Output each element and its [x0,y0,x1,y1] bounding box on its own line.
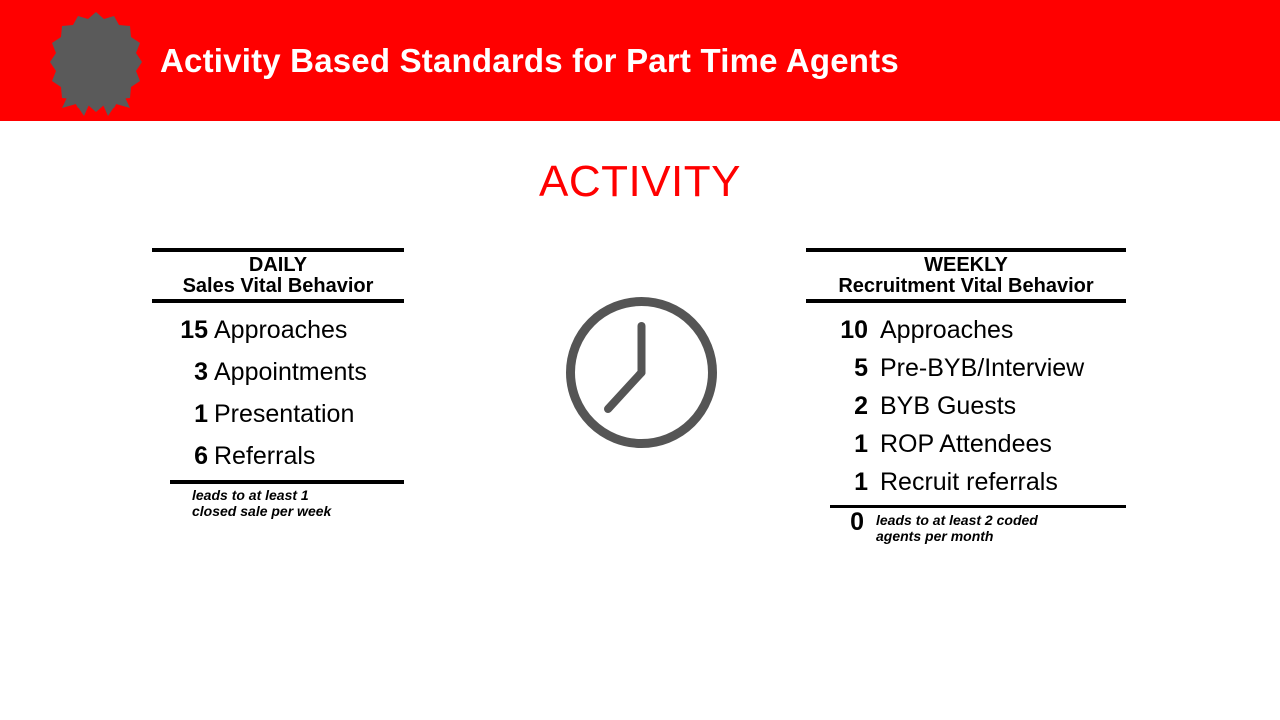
weekly-footnote: leads to at least 2 coded agents per mon… [876,510,1038,544]
list-item: 1 ROP Attendees [806,430,1126,459]
metric-label: Approaches [880,316,1013,345]
daily-heading-line2: Sales Vital Behavior [152,276,404,297]
metric-label: Presentation [214,400,354,429]
metric-label: Referrals [214,442,315,471]
list-item: 6 Referrals [152,442,404,471]
list-item: 5 Pre-BYB/Interview [806,354,1126,383]
daily-footnote-line2: closed sale per week [192,503,404,519]
list-item: 15 Approaches [152,316,404,345]
weekly-recruitment-column: WEEKLY Recruitment Vital Behavior 10 App… [806,248,1126,544]
daily-column-heading: DAILY Sales Vital Behavior [152,252,404,299]
metric-value: 10 [834,316,868,345]
metric-value: 5 [834,354,868,383]
metric-value: 3 [174,358,208,387]
metric-value: 1 [174,400,208,429]
page-title: Activity Based Standards for Part Time A… [160,42,899,80]
metric-label: Appointments [214,358,367,387]
metric-value: 0 [830,510,864,535]
metric-label: BYB Guests [880,392,1016,421]
weekly-footnote-row: 0 leads to at least 2 coded agents per m… [806,508,1126,544]
daily-footnote: leads to at least 1 closed sale per week [152,484,404,519]
list-item: 1 Presentation [152,400,404,429]
header-band: Activity Based Standards for Part Time A… [0,0,1280,121]
list-item: 10 Approaches [806,316,1126,345]
weekly-heading-line1: WEEKLY [924,254,1008,276]
metric-value: 15 [174,316,208,345]
list-item: 1 Recruit referrals [806,468,1126,497]
weekly-footnote-line1: leads to at least 2 coded [876,512,1038,528]
metric-label: Recruit referrals [880,468,1058,497]
metric-label: Pre-BYB/Interview [880,354,1084,383]
list-item: 3 Appointments [152,358,404,387]
clock-icon [560,291,723,454]
metric-value: 6 [174,442,208,471]
weekly-rows: 10 Approaches 5 Pre-BYB/Interview 2 BYB … [806,303,1126,497]
daily-heading-line1: DAILY [249,254,307,276]
weekly-footnote-line2: agents per month [876,528,1038,544]
list-item: 2 BYB Guests [806,392,1126,421]
section-title: ACTIVITY [0,157,1280,207]
weekly-heading-line2: Recruitment Vital Behavior [806,276,1126,297]
metric-value: 1 [834,430,868,459]
award-ribbon-icon [42,8,150,116]
metric-label: Approaches [214,316,347,345]
daily-rows: 15 Approaches 3 Appointments 1 Presentat… [152,303,404,471]
daily-sales-column: DAILY Sales Vital Behavior 15 Approaches… [152,248,404,519]
metric-value: 1 [834,468,868,497]
weekly-column-heading: WEEKLY Recruitment Vital Behavior [806,252,1126,299]
metric-label: ROP Attendees [880,430,1052,459]
metric-value: 2 [834,392,868,421]
daily-footnote-line1: leads to at least 1 [192,487,404,503]
